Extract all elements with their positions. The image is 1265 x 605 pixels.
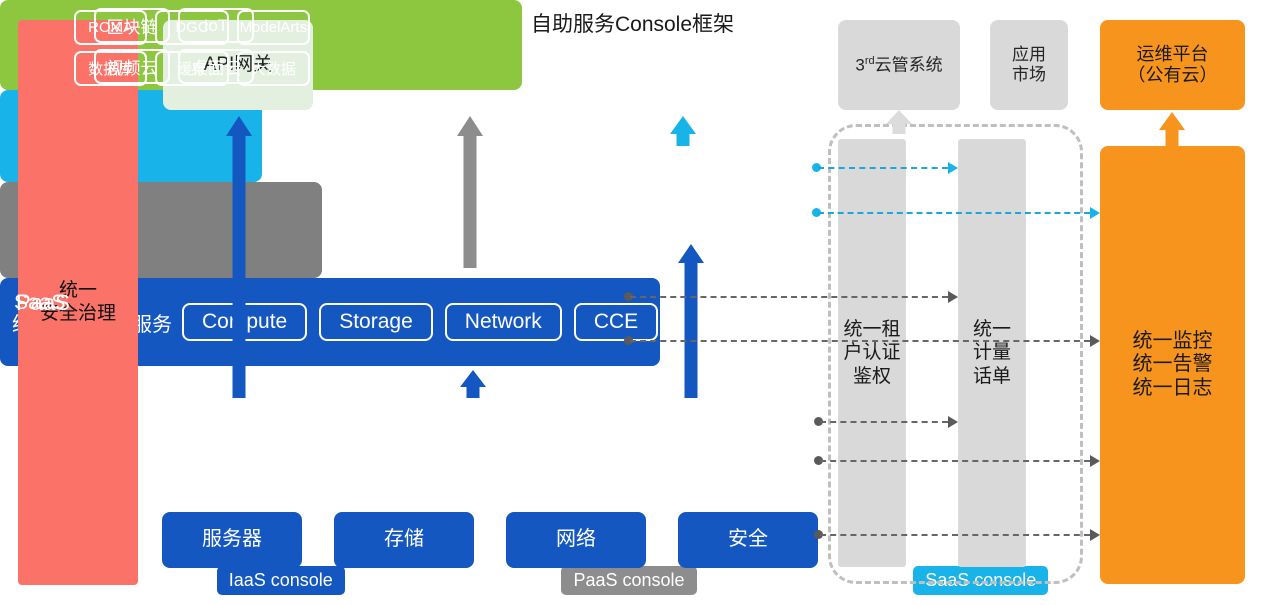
- paas-service-dgc[interactable]: DGC: [155, 10, 228, 45]
- third-party-suffix: 云管系统: [875, 55, 943, 74]
- paas-layer-label: PaaS: [16, 290, 70, 316]
- app-market-box: 应用市场: [990, 20, 1068, 110]
- connector-infra-to-ops: [820, 460, 1090, 462]
- ops-platform-panel-label: 统一监控 统一告警 统一日志: [1133, 330, 1213, 401]
- arrow-infra-to-paas: [460, 370, 486, 398]
- arrow-shared-to-third-party-cloud: [886, 110, 912, 134]
- third-party-superscript: rd: [865, 55, 875, 67]
- ops-panel-line3: 统一日志: [1133, 377, 1213, 399]
- unified-tenant-auth-column: 统一租户认证鉴权: [838, 139, 906, 567]
- resource-box-security: 安全: [678, 512, 818, 568]
- ops-panel-line1: 统一监控: [1133, 330, 1213, 352]
- unified-tenant-auth-label: 统一租户认证鉴权: [843, 318, 900, 388]
- connector-resources-to-ops: [820, 534, 1090, 536]
- connector-arrowhead-saas-to-auth: [948, 162, 958, 174]
- arrow-infra-to-api-gateway: [226, 116, 252, 398]
- paas-service-database[interactable]: 数据库: [74, 51, 147, 86]
- resource-label-security: 安全: [728, 528, 768, 552]
- connector-arrowhead-infra-to-auth: [948, 416, 958, 428]
- resource-label-storage: 存储: [384, 528, 424, 552]
- infra-chip-storage[interactable]: Storage: [319, 303, 433, 341]
- paas-service-roma[interactable]: ROMA: [74, 10, 147, 45]
- infra-chip-network[interactable]: Network: [445, 303, 562, 341]
- paas-service-bigdata[interactable]: 大数据: [237, 51, 310, 86]
- connector-paas-to-auth: [630, 296, 948, 298]
- connector-infra-to-auth: [820, 421, 948, 423]
- connector-paas-to-ops: [630, 340, 1090, 342]
- resource-label-network: 网络: [556, 528, 596, 552]
- architecture-diagram: 统一安全治理 API网关 自助服务Console框架 IaaS console …: [0, 0, 1265, 605]
- ops-top-line2: （公有云）: [1128, 65, 1218, 85]
- connector-arrowhead-paas-to-ops: [1090, 335, 1100, 347]
- connector-saas-to-auth: [818, 167, 948, 169]
- third-party-prefix: 3: [855, 55, 864, 74]
- paas-service-cache[interactable]: 缓存: [155, 51, 228, 86]
- resource-label-server: 服务器: [202, 528, 262, 552]
- paas-service-grid: ROMA DGC ModelArts 数据库 缓存 大数据: [74, 10, 310, 86]
- paas-service-modelarts[interactable]: ModelArts: [237, 10, 310, 45]
- ops-platform-panel: 统一监控 统一告警 统一日志: [1100, 146, 1245, 584]
- console-pill-iaas[interactable]: IaaS console: [217, 566, 345, 595]
- infrastructure-chip-group: Compute Storage Network CCE: [182, 303, 658, 341]
- resource-box-server: 服务器: [162, 512, 302, 568]
- ops-top-line1: 运维平台: [1137, 44, 1209, 64]
- connector-arrowhead-infra-to-ops: [1090, 455, 1100, 467]
- connector-arrowhead-paas-to-auth: [948, 291, 958, 303]
- arrow-saas-to-console: [670, 116, 696, 146]
- unified-metering-billing-label: 统一计量话单: [973, 318, 1011, 388]
- app-market-label: 应用市场: [1012, 45, 1046, 85]
- third-party-cloud-label: 3rd云管系统: [855, 55, 942, 76]
- ops-platform-top-label: 运维平台 （公有云）: [1128, 44, 1218, 86]
- infra-chip-cce[interactable]: CCE: [574, 303, 658, 341]
- connector-arrowhead-saas-to-ops: [1090, 207, 1100, 219]
- third-party-cloud-box: 3rd云管系统: [838, 20, 960, 110]
- connector-arrowhead-resources-to-ops: [1090, 529, 1100, 541]
- resource-box-storage: 存储: [334, 512, 474, 568]
- arrow-paas-to-console: [457, 116, 483, 268]
- arrow-infra-to-saas: [678, 244, 704, 398]
- ops-panel-line2: 统一告警: [1133, 353, 1213, 375]
- connector-saas-to-ops: [818, 212, 1090, 214]
- resource-box-network: 网络: [506, 512, 646, 568]
- arrow-ops-panel-to-ops-top: [1159, 112, 1185, 148]
- unified-metering-billing-column: 统一计量话单: [958, 139, 1026, 567]
- console-pill-paas[interactable]: PaaS console: [561, 566, 696, 595]
- ops-platform-top-box: 运维平台 （公有云）: [1100, 20, 1245, 110]
